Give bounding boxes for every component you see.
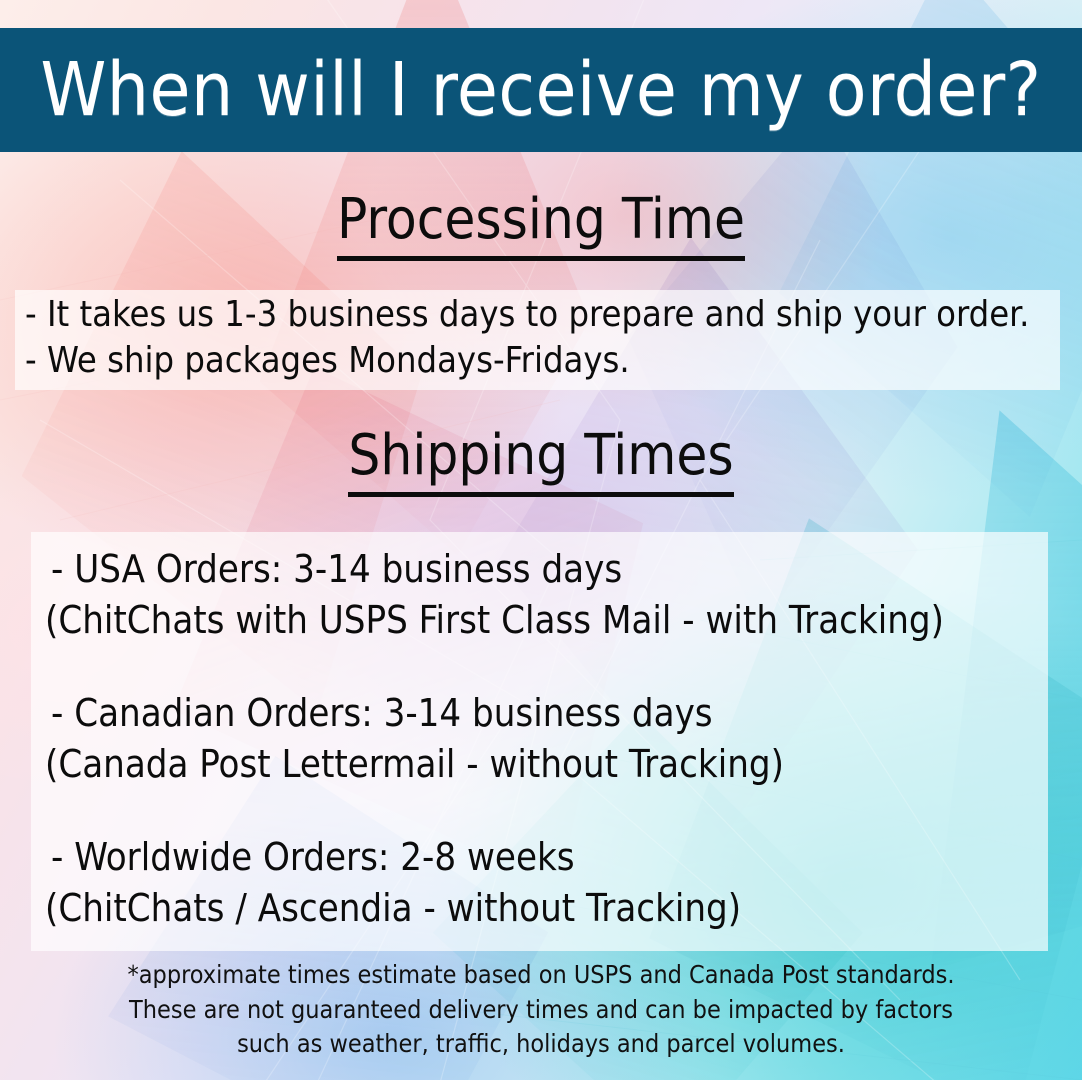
section-heading-processing-time-label: Processing Time [337, 187, 745, 261]
section-heading-shipping-times: Shipping Times [0, 428, 1082, 484]
disclaimer-footnote: *approximate times estimate based on USP… [0, 958, 1082, 1062]
shipping-carrier-line: (Canada Post Lettermail - without Tracki… [45, 739, 1048, 790]
footnote-line: *approximate times estimate based on USP… [0, 958, 1082, 993]
processing-line: - We ship packages Mondays-Fridays. [15, 338, 1060, 384]
shipping-group-canada: - Canadian Orders: 3-14 business days (C… [31, 688, 1048, 790]
poster-content: Processing Time - It takes us 1-3 busine… [0, 0, 1082, 1080]
shipping-carrier-line: (ChitChats / Ascendia - without Tracking… [45, 883, 1048, 934]
shipping-info-poster: When will I receive my order? Processing… [0, 0, 1082, 1080]
shipping-group-worldwide: - Worldwide Orders: 2-8 weeks (ChitChats… [31, 832, 1048, 934]
shipping-destination-line: - Canadian Orders: 3-14 business days [45, 688, 1048, 739]
shipping-group-usa: - USA Orders: 3-14 business days (ChitCh… [31, 544, 1048, 646]
page-title: When will I receive my order? [40, 53, 1041, 127]
shipping-destination-line: - USA Orders: 3-14 business days [45, 544, 1048, 595]
processing-line: - It takes us 1-3 business days to prepa… [15, 292, 1060, 338]
header-banner: When will I receive my order? [0, 28, 1082, 152]
shipping-carrier-line: (ChitChats with USPS First Class Mail - … [45, 595, 1048, 646]
footnote-line: These are not guaranteed delivery times … [0, 993, 1082, 1028]
shipping-destination-line: - Worldwide Orders: 2-8 weeks [45, 832, 1048, 883]
processing-time-panel: - It takes us 1-3 business days to prepa… [15, 290, 1060, 390]
section-heading-processing-time: Processing Time [0, 192, 1082, 248]
section-heading-shipping-times-label: Shipping Times [348, 423, 733, 497]
footnote-line: such as weather, traffic, holidays and p… [0, 1027, 1082, 1062]
shipping-times-panel: - USA Orders: 3-14 business days (ChitCh… [31, 532, 1048, 951]
